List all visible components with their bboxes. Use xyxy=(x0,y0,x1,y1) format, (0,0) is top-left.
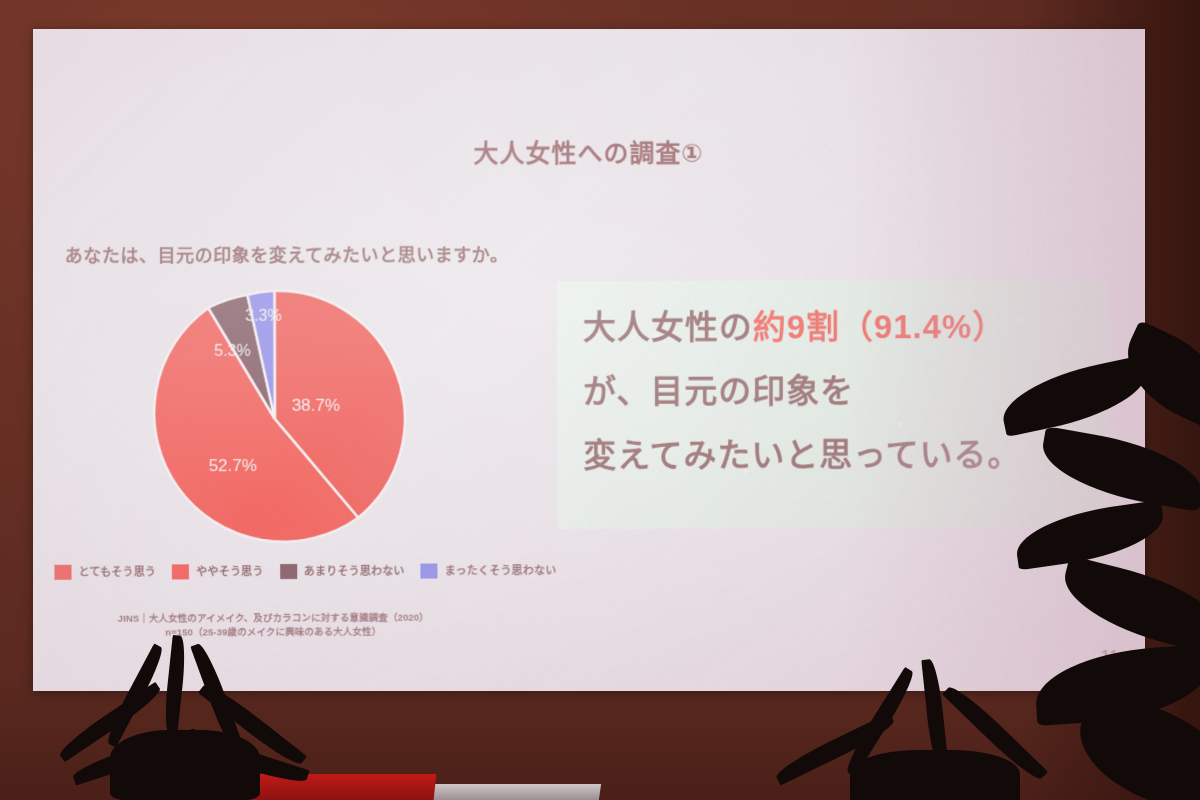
pie-slices xyxy=(154,290,405,542)
legend-item-amari: あまりそう思わない xyxy=(280,563,405,579)
slide-page-number: 11 xyxy=(1101,647,1119,667)
callout-line-1: 大人女性の約9割（91.4%） xyxy=(583,310,1109,344)
callout-prefix: 大人女性の xyxy=(583,309,753,346)
pie-label-amari: 5.3% xyxy=(214,343,251,360)
page-title: 大人女性への調査① xyxy=(31,133,1143,171)
legend-swatch-icon xyxy=(172,564,189,579)
pie-chart-svg: 38.7% 52.7% 5.3% 3.3% xyxy=(140,287,409,550)
pie-label-mattaku: 3.3% xyxy=(245,308,282,325)
legend-item-yaya: ややそう思う xyxy=(172,563,264,579)
source-line-1: JINS｜大人女性のアイメイク、及びカラコンに対する意識調査（2020） xyxy=(118,613,429,625)
photo-scene: 大人女性への調査① あなたは、目元の印象を変えてみたいと思いますか。 xyxy=(0,0,1200,800)
source-note: JINS｜大人女性のアイメイク、及びカラコンに対する意識調査（2020） n=1… xyxy=(93,611,454,640)
callout-highlight: 約9割（91.4%） xyxy=(753,308,1006,346)
legend-swatch-icon xyxy=(54,564,71,579)
legend-label: ややそう思う xyxy=(196,563,263,579)
chart-legend: とてもそう思う ややそう思う あまりそう思わない まったくそう思わない xyxy=(54,562,556,580)
legend-swatch-icon xyxy=(421,563,438,578)
pie-label-yaya: 52.7% xyxy=(209,456,257,475)
legend-label: とてもそう思う xyxy=(79,563,157,579)
projection-screen: 大人女性への調査① あなたは、目元の印象を変えてみたいと思いますか。 xyxy=(33,29,1145,691)
survey-question: あなたは、目元の印象を変えてみたいと思いますか。 xyxy=(65,241,509,268)
legend-item-mattaku: まったくそう思わない xyxy=(421,562,557,578)
callout-line-2: が、目元の印象を xyxy=(583,374,1109,408)
legend-item-totemo: とてもそう思う xyxy=(54,563,156,579)
callout-line-3: 変えてみたいと思っている。 xyxy=(583,437,1109,472)
foreground-object-red xyxy=(214,774,437,800)
presentation-slide: 大人女性への調査① あなたは、目元の印象を変えてみたいと思いますか。 xyxy=(31,28,1145,693)
legend-label: まったくそう思わない xyxy=(445,562,557,578)
pie-label-totemo: 38.7% xyxy=(292,396,340,415)
legend-swatch-icon xyxy=(280,564,297,579)
source-line-2: n=150（25-39歳のメイクに興味のある大人女性） xyxy=(93,625,454,640)
key-finding-callout: 大人女性の約9割（91.4%） が、目元の印象を 変えてみたいと思っている。 xyxy=(557,280,1110,529)
legend-label: あまりそう思わない xyxy=(304,563,405,579)
pie-chart: 38.7% 52.7% 5.3% 3.3% xyxy=(140,287,409,550)
